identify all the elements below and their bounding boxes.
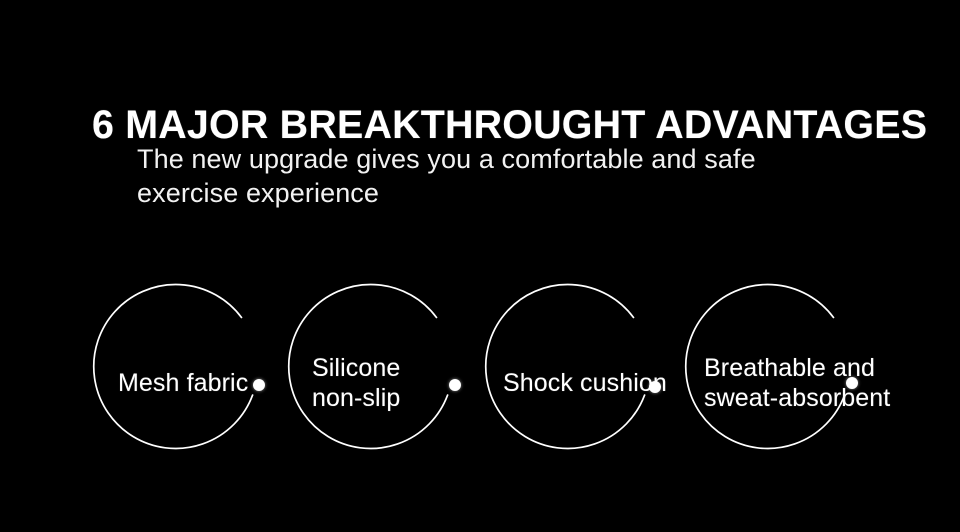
feature-label-line-1: Shock cushion bbox=[503, 368, 667, 398]
feature-circle-row: Mesh fabric Silicone non-slip bbox=[0, 292, 960, 467]
feature-label-line-1: Breathable and bbox=[704, 353, 890, 383]
promo-banner: 6 MAJOR BREAKTHROUGHT ADVANTAGES The new… bbox=[0, 0, 960, 532]
feature-label-line-1: Mesh fabric bbox=[118, 368, 248, 398]
feature-label-line-1: Silicone bbox=[312, 353, 400, 383]
arc-endpoint-dot bbox=[253, 379, 265, 391]
feature-silicone-non-slip: Silicone non-slip bbox=[299, 292, 467, 460]
feature-label-line-2: non-slip bbox=[312, 383, 400, 413]
subtitle-line-1: The new upgrade gives you a comfortable … bbox=[137, 142, 857, 176]
page-title: 6 MAJOR BREAKTHROUGHT ADVANTAGES bbox=[92, 103, 880, 147]
feature-label: Mesh fabric bbox=[118, 368, 248, 398]
feature-label: Breathable and sweat-absorbent bbox=[704, 353, 890, 413]
arc-endpoint-dot bbox=[449, 379, 461, 391]
feature-label-line-2: sweat-absorbent bbox=[704, 383, 890, 413]
subtitle: The new upgrade gives you a comfortable … bbox=[137, 142, 857, 210]
feature-label: Silicone non-slip bbox=[312, 353, 400, 413]
feature-shock-cushion: Shock cushion bbox=[496, 292, 664, 460]
subtitle-line-2: exercise experience bbox=[137, 176, 857, 210]
feature-label: Shock cushion bbox=[503, 368, 667, 398]
feature-mesh-fabric: Mesh fabric bbox=[104, 292, 272, 460]
feature-breathable-sweat-absorbent: Breathable and sweat-absorbent bbox=[696, 292, 864, 460]
